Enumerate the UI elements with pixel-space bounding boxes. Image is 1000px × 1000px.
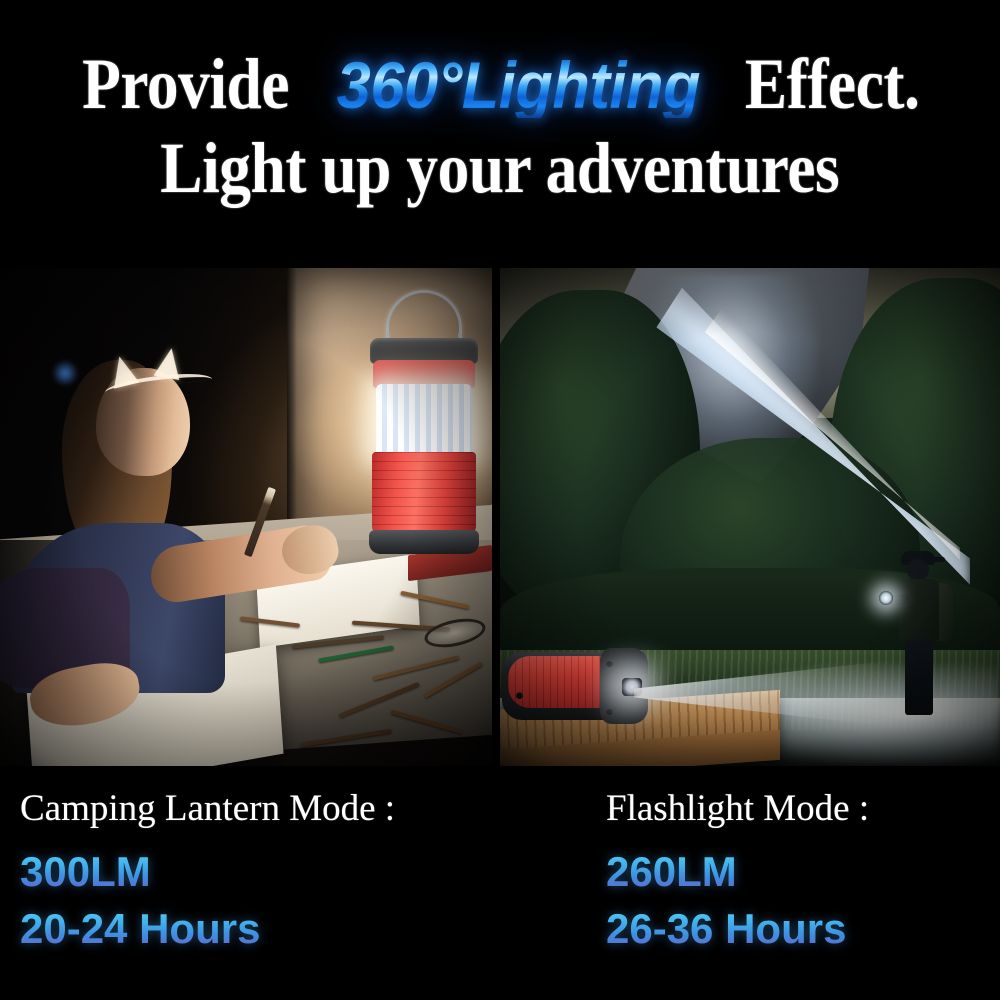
headline-word-provide: Provide	[82, 48, 289, 120]
caption-lumens-camping-lantern: 300LM	[20, 849, 500, 894]
lantern-led-panel	[376, 384, 472, 456]
flashlight-screw	[516, 692, 523, 699]
cat-ear-headband	[100, 346, 200, 394]
indoor-night-scene	[0, 268, 492, 766]
headline-line-1: Provide 360°Lighting Effect.	[0, 48, 1000, 120]
lantern-handle	[386, 290, 462, 342]
flashlight-mode-product	[502, 646, 658, 726]
photo-panel-flashlight	[500, 268, 1000, 766]
flashlight-screw	[606, 708, 613, 715]
hiker-figure	[885, 543, 957, 723]
caption-block-camping-lantern: Camping Lantern Mode : 300LM 20-24 Hours	[20, 766, 500, 952]
blue-bokeh-light	[52, 360, 78, 386]
headline-banner: Provide 360°Lighting Effect. Light up yo…	[0, 0, 1000, 268]
hiker-head	[907, 559, 929, 581]
handheld-torch-light	[879, 591, 893, 605]
headline-highlight-360-lighting: 360°Lighting	[335, 52, 702, 118]
lantern-base-cap	[369, 530, 479, 554]
flashlight-red-shell	[508, 656, 606, 708]
flashlight-screw	[606, 660, 613, 667]
photo-panel-camping-lantern	[0, 268, 492, 766]
caption-row: Camping Lantern Mode : 300LM 20-24 Hours…	[0, 766, 1000, 1000]
photo-panel-row	[0, 268, 1000, 766]
headline-subline-text: Light up your adventures	[161, 132, 840, 204]
caption-lumens-flashlight: 260LM	[606, 849, 1000, 894]
caption-title-flashlight: Flashlight Mode :	[606, 790, 1000, 827]
outdoor-night-scene	[500, 268, 1000, 766]
caption-block-flashlight: Flashlight Mode : 260LM 26-36 Hours	[606, 766, 1000, 952]
caption-runtime-flashlight: 26-36 Hours	[606, 906, 1000, 951]
camping-lantern-product	[360, 290, 488, 560]
hiker-torso	[899, 579, 939, 641]
hiker-legs	[905, 639, 933, 715]
headline-word-effect: Effect.	[745, 48, 920, 120]
caption-runtime-camping-lantern: 20-24 Hours	[20, 906, 500, 951]
headline-line-2: Light up your adventures	[0, 132, 1000, 204]
caption-title-camping-lantern: Camping Lantern Mode :	[20, 790, 500, 827]
lantern-red-body	[372, 452, 476, 536]
